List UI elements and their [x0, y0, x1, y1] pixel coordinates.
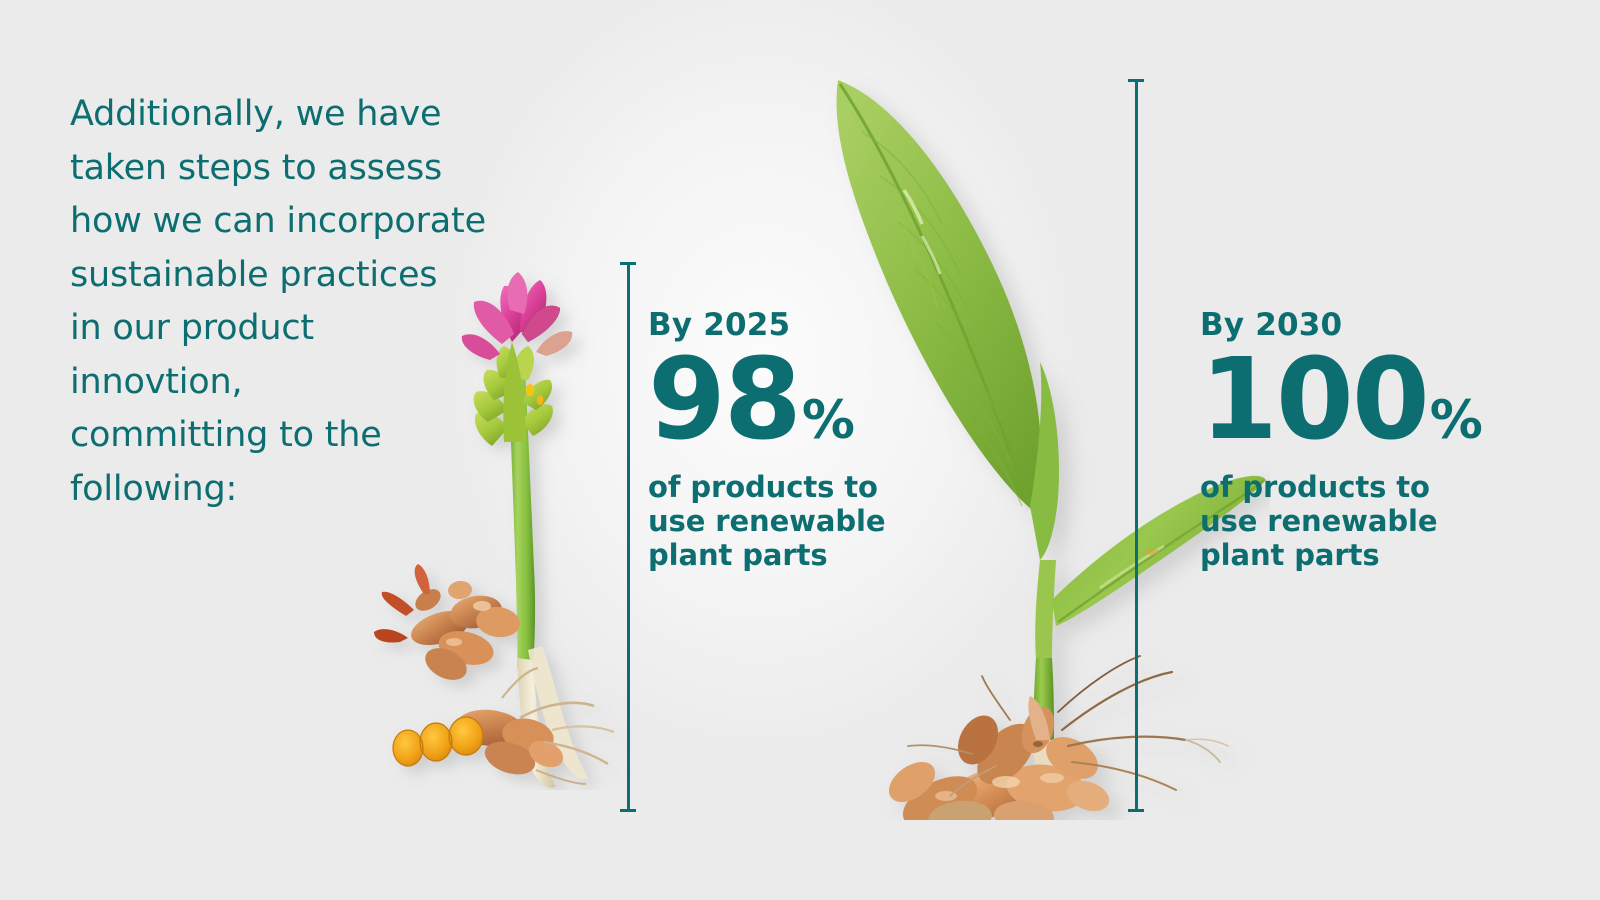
stat-percent-symbol-2030: % — [1430, 394, 1483, 447]
stat-number-2030: 100 — [1200, 349, 1428, 452]
divider-line — [1135, 79, 1138, 812]
stat-block-2025: By 2025 98 % of products to use renewabl… — [648, 310, 885, 572]
stat-value-row-2025: 98 % — [648, 349, 885, 452]
stat-value-row-2030: 100 % — [1200, 349, 1483, 452]
stat-caption-2030: of products to use renewable plant parts — [1200, 470, 1483, 572]
divider-cap-bottom — [620, 809, 636, 812]
stat-caption-2025: of products to use renewable plant parts — [648, 470, 885, 572]
divider-line — [627, 262, 630, 812]
infographic-canvas: Additionally, we have taken steps to ass… — [0, 0, 1600, 900]
intro-paragraph: Additionally, we have taken steps to ass… — [70, 88, 550, 516]
divider-rule-left — [620, 262, 636, 812]
divider-rule-right — [1128, 79, 1144, 812]
stat-percent-symbol-2025: % — [802, 394, 855, 447]
divider-cap-bottom — [1128, 809, 1144, 812]
stat-number-2025: 98 — [648, 349, 800, 452]
stat-block-2030: By 2030 100 % of products to use renewab… — [1200, 310, 1483, 572]
